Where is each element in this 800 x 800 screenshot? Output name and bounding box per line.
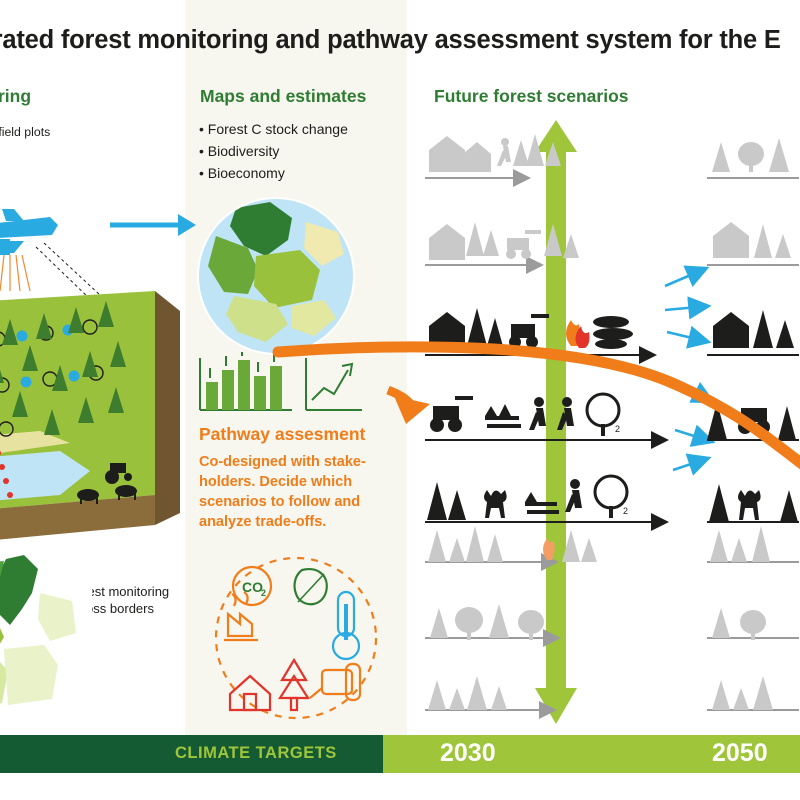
house-icon — [429, 224, 465, 260]
forest-block-illustration — [0, 195, 190, 565]
conifer-icon — [428, 680, 446, 710]
blue-arrow-right — [108, 208, 198, 242]
tree-icon — [280, 660, 308, 710]
house-icon — [230, 676, 270, 710]
house-icon — [429, 136, 491, 172]
forest-terrain-block — [0, 291, 180, 547]
maps-bullet-list: • Forest C stock change • Biodiversity •… — [199, 118, 348, 184]
list-item: • Forest C stock change — [199, 118, 348, 140]
left-panel-list: ...rests field plots ...ts — [0, 124, 50, 156]
left-list-line-2: ...ts — [0, 140, 50, 156]
conifer-icon — [487, 534, 503, 562]
conifer-icon — [466, 222, 484, 256]
left-list-line-1: ...rests field plots — [0, 124, 50, 140]
scenario-row — [425, 676, 555, 710]
harvester-icon — [506, 230, 541, 259]
co2-icon: CO 2 — [233, 567, 271, 605]
list-item: • Bioeconomy — [199, 162, 348, 184]
deciduous-tree-icon — [455, 607, 483, 633]
nordic-map — [0, 553, 92, 735]
conifer-icon — [428, 530, 446, 562]
orange-pathway-curve — [270, 320, 800, 520]
factory-icon — [224, 592, 258, 640]
conifer-icon — [449, 688, 465, 710]
scenario-row — [425, 604, 559, 640]
heading-future: Future forest scenarios — [434, 86, 629, 107]
svg-text:2: 2 — [261, 588, 266, 598]
heading-maps: Maps and estimates — [200, 86, 366, 107]
thermometer-icon — [333, 592, 359, 659]
hiker-icon — [497, 138, 511, 166]
climate-targets-label: CLIMATE TARGETS — [175, 744, 337, 763]
conifer-icon — [489, 604, 509, 638]
conifer-icon — [430, 608, 448, 638]
scenario-row — [425, 134, 561, 178]
list-item: • Biodiversity — [199, 140, 348, 162]
conifer-icon — [467, 676, 487, 710]
year-2030-label: 2030 — [440, 739, 496, 768]
page-title: ...rated forest monitoring and pathway a… — [0, 26, 800, 55]
timeline-bar: CLIMATE TARGETS 2030 2050 — [0, 735, 800, 773]
conifer-icon — [483, 230, 499, 256]
year-2050-label: 2050 — [712, 739, 768, 768]
conifer-icon — [466, 526, 484, 562]
deciduous-tree-icon — [518, 610, 544, 634]
conifer-icon — [581, 538, 597, 562]
heading-monitoring: ...itoring — [0, 86, 31, 107]
scenario-row — [425, 526, 597, 562]
conifer-icon — [491, 686, 507, 710]
pathway-assessment-icon: CO 2 — [206, 548, 386, 726]
leaf-icon — [295, 569, 327, 604]
conifer-icon — [449, 538, 465, 562]
